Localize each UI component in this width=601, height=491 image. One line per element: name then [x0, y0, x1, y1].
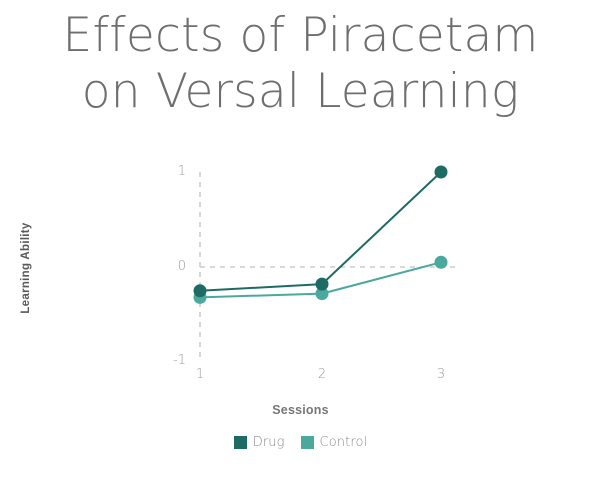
- x-tick-label-1: 1: [183, 367, 217, 382]
- data-point-drug-s2[interactable]: [316, 278, 329, 291]
- x-axis-title: Sessions: [0, 403, 601, 417]
- legend-item-control[interactable]: Control: [301, 435, 368, 450]
- legend-label-drug: Drug: [253, 435, 285, 450]
- line-chart-svg: [0, 0, 601, 491]
- legend-label-control: Control: [320, 435, 368, 450]
- chart-legend: Drug Control: [0, 435, 601, 450]
- x-tick-label-3: 3: [424, 367, 458, 382]
- data-point-drug-s1[interactable]: [194, 284, 207, 297]
- data-point-drug-s3[interactable]: [435, 166, 448, 179]
- legend-item-drug[interactable]: Drug: [234, 435, 285, 450]
- legend-swatch-control: [301, 436, 314, 449]
- legend-swatch-drug: [234, 436, 247, 449]
- series-line-drug: [200, 172, 441, 291]
- y-axis-title: Learning Ability: [20, 208, 32, 328]
- y-tick-label-1: 1: [152, 164, 186, 179]
- y-tick-label-0: 0: [152, 259, 186, 274]
- x-tick-label-2: 2: [305, 367, 339, 382]
- y-tick-label-minus-1: -1: [152, 353, 186, 368]
- data-point-control-s3[interactable]: [435, 256, 448, 269]
- chart-plot-area: 1 0 -1 1 2 3 Learning Ability Sessions: [0, 0, 601, 491]
